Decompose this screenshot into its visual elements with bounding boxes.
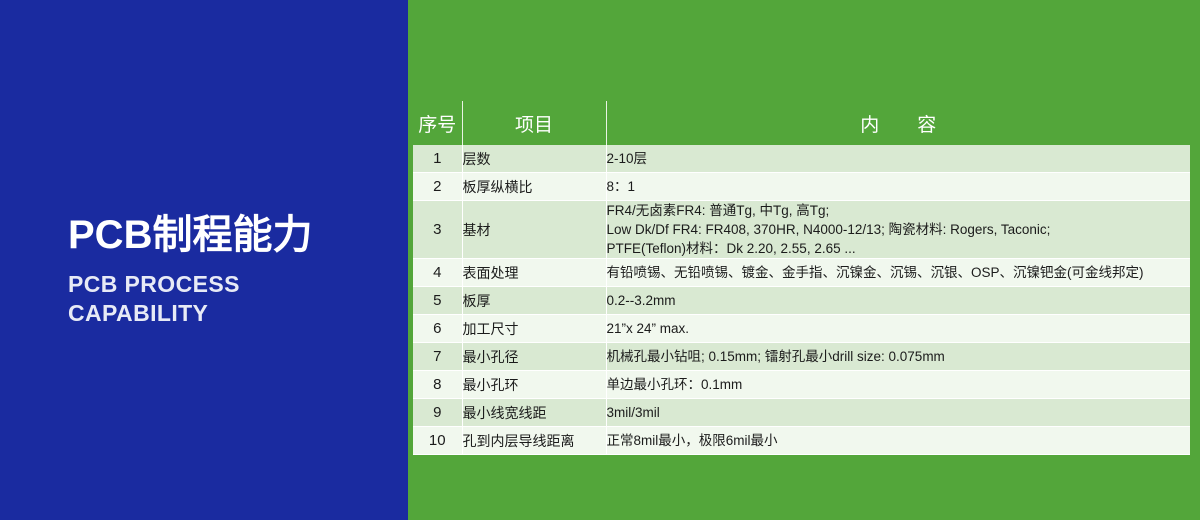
cell-content-line: Low Dk/Df FR4: FR408, 370HR, N4000-12/13… (607, 220, 1191, 239)
cell-item: 基材 (462, 201, 606, 259)
cell-content: 0.2--3.2mm (606, 287, 1190, 315)
cell-content: 正常8mil最小，极限6mil最小 (606, 427, 1190, 455)
column-header-item: 项目 (462, 101, 606, 145)
column-header-no: 序号 (413, 101, 462, 145)
cell-content-line: 0.2--3.2mm (607, 291, 1191, 310)
cell-item: 表面处理 (462, 259, 606, 287)
cell-no: 6 (413, 315, 462, 343)
page-title-english-line2: CAPABILITY (68, 299, 398, 328)
cell-no: 1 (413, 145, 462, 173)
table-row: 3基材FR4/无卤素FR4: 普通Tg, 中Tg, 高Tg;Low Dk/Df … (413, 201, 1190, 259)
table-header-row: 序号 项目 内 容 (413, 101, 1190, 145)
cell-item: 孔到内层导线距离 (462, 427, 606, 455)
table-row: 4表面处理有铅喷锡、无铅喷锡、镀金、金手指、沉镍金、沉锡、沉银、OSP、沉镍钯金… (413, 259, 1190, 287)
cell-no: 2 (413, 173, 462, 201)
cell-content: 3mil/3mil (606, 399, 1190, 427)
pcb-capability-table: 序号 项目 内 容 1层数2-10层2板厚纵横比8：13基材FR4/无卤素FR4… (413, 101, 1190, 455)
cell-content-line: 2-10层 (607, 149, 1191, 168)
cell-content-line: 单边最小孔环：0.1mm (607, 375, 1191, 394)
table-row: 6加工尺寸21”x 24” max. (413, 315, 1190, 343)
cell-no: 4 (413, 259, 462, 287)
table-body: 1层数2-10层2板厚纵横比8：13基材FR4/无卤素FR4: 普通Tg, 中T… (413, 145, 1190, 455)
column-header-content: 内 容 (606, 101, 1190, 145)
table-row: 10孔到内层导线距离正常8mil最小，极限6mil最小 (413, 427, 1190, 455)
table-row: 8最小孔环单边最小孔环：0.1mm (413, 371, 1190, 399)
table-row: 5板厚0.2--3.2mm (413, 287, 1190, 315)
page-title-english: PCB PROCESS CAPABILITY (68, 270, 398, 329)
cell-content-line: 正常8mil最小，极限6mil最小 (607, 431, 1191, 450)
cell-no: 7 (413, 343, 462, 371)
cell-content-line: 21”x 24” max. (607, 319, 1191, 338)
cell-content: FR4/无卤素FR4: 普通Tg, 中Tg, 高Tg;Low Dk/Df FR4… (606, 201, 1190, 259)
cell-content: 8：1 (606, 173, 1190, 201)
cell-content: 有铅喷锡、无铅喷锡、镀金、金手指、沉镍金、沉锡、沉银、OSP、沉镍钯金(可金线邦… (606, 259, 1190, 287)
cell-no: 10 (413, 427, 462, 455)
title-block: PCB制程能力 PCB PROCESS CAPABILITY (68, 213, 398, 329)
page-title-chinese: PCB制程能力 (68, 213, 398, 258)
cell-no: 8 (413, 371, 462, 399)
cell-content: 机械孔最小钻咀; 0.15mm; 镭射孔最小drill size: 0.075m… (606, 343, 1190, 371)
slide-canvas: PCB制程能力 PCB PROCESS CAPABILITY 序号 项目 内 容… (0, 0, 1200, 520)
cell-no: 5 (413, 287, 462, 315)
cell-content-line: 3mil/3mil (607, 403, 1191, 422)
cell-item: 板厚 (462, 287, 606, 315)
cell-content: 21”x 24” max. (606, 315, 1190, 343)
cell-item: 最小孔环 (462, 371, 606, 399)
cell-content: 2-10层 (606, 145, 1190, 173)
cell-content: 单边最小孔环：0.1mm (606, 371, 1190, 399)
table-row: 7最小孔径机械孔最小钻咀; 0.15mm; 镭射孔最小drill size: 0… (413, 343, 1190, 371)
cell-no: 3 (413, 201, 462, 259)
cell-item: 层数 (462, 145, 606, 173)
page-title-english-line1: PCB PROCESS (68, 270, 398, 299)
cell-item: 加工尺寸 (462, 315, 606, 343)
cell-content-line: 8：1 (607, 177, 1191, 196)
table-row: 2板厚纵横比8：1 (413, 173, 1190, 201)
cell-content-line: 有铅喷锡、无铅喷锡、镀金、金手指、沉镍金、沉锡、沉银、OSP、沉镍钯金(可金线邦… (607, 263, 1191, 282)
table-header: 序号 项目 内 容 (413, 101, 1190, 145)
table-row: 1层数2-10层 (413, 145, 1190, 173)
cell-item: 板厚纵横比 (462, 173, 606, 201)
cell-content-line: FR4/无卤素FR4: 普通Tg, 中Tg, 高Tg; (607, 201, 1191, 220)
cell-no: 9 (413, 399, 462, 427)
cell-content-line: 机械孔最小钻咀; 0.15mm; 镭射孔最小drill size: 0.075m… (607, 347, 1191, 366)
left-blue-panel: PCB制程能力 PCB PROCESS CAPABILITY (0, 0, 408, 520)
cell-content-line: PTFE(Teflon)材料：Dk 2.20, 2.55, 2.65 ... (607, 239, 1191, 258)
cell-item: 最小孔径 (462, 343, 606, 371)
cell-item: 最小线宽线距 (462, 399, 606, 427)
table-row: 9最小线宽线距3mil/3mil (413, 399, 1190, 427)
spec-table-container: 序号 项目 内 容 1层数2-10层2板厚纵横比8：13基材FR4/无卤素FR4… (413, 101, 1190, 455)
